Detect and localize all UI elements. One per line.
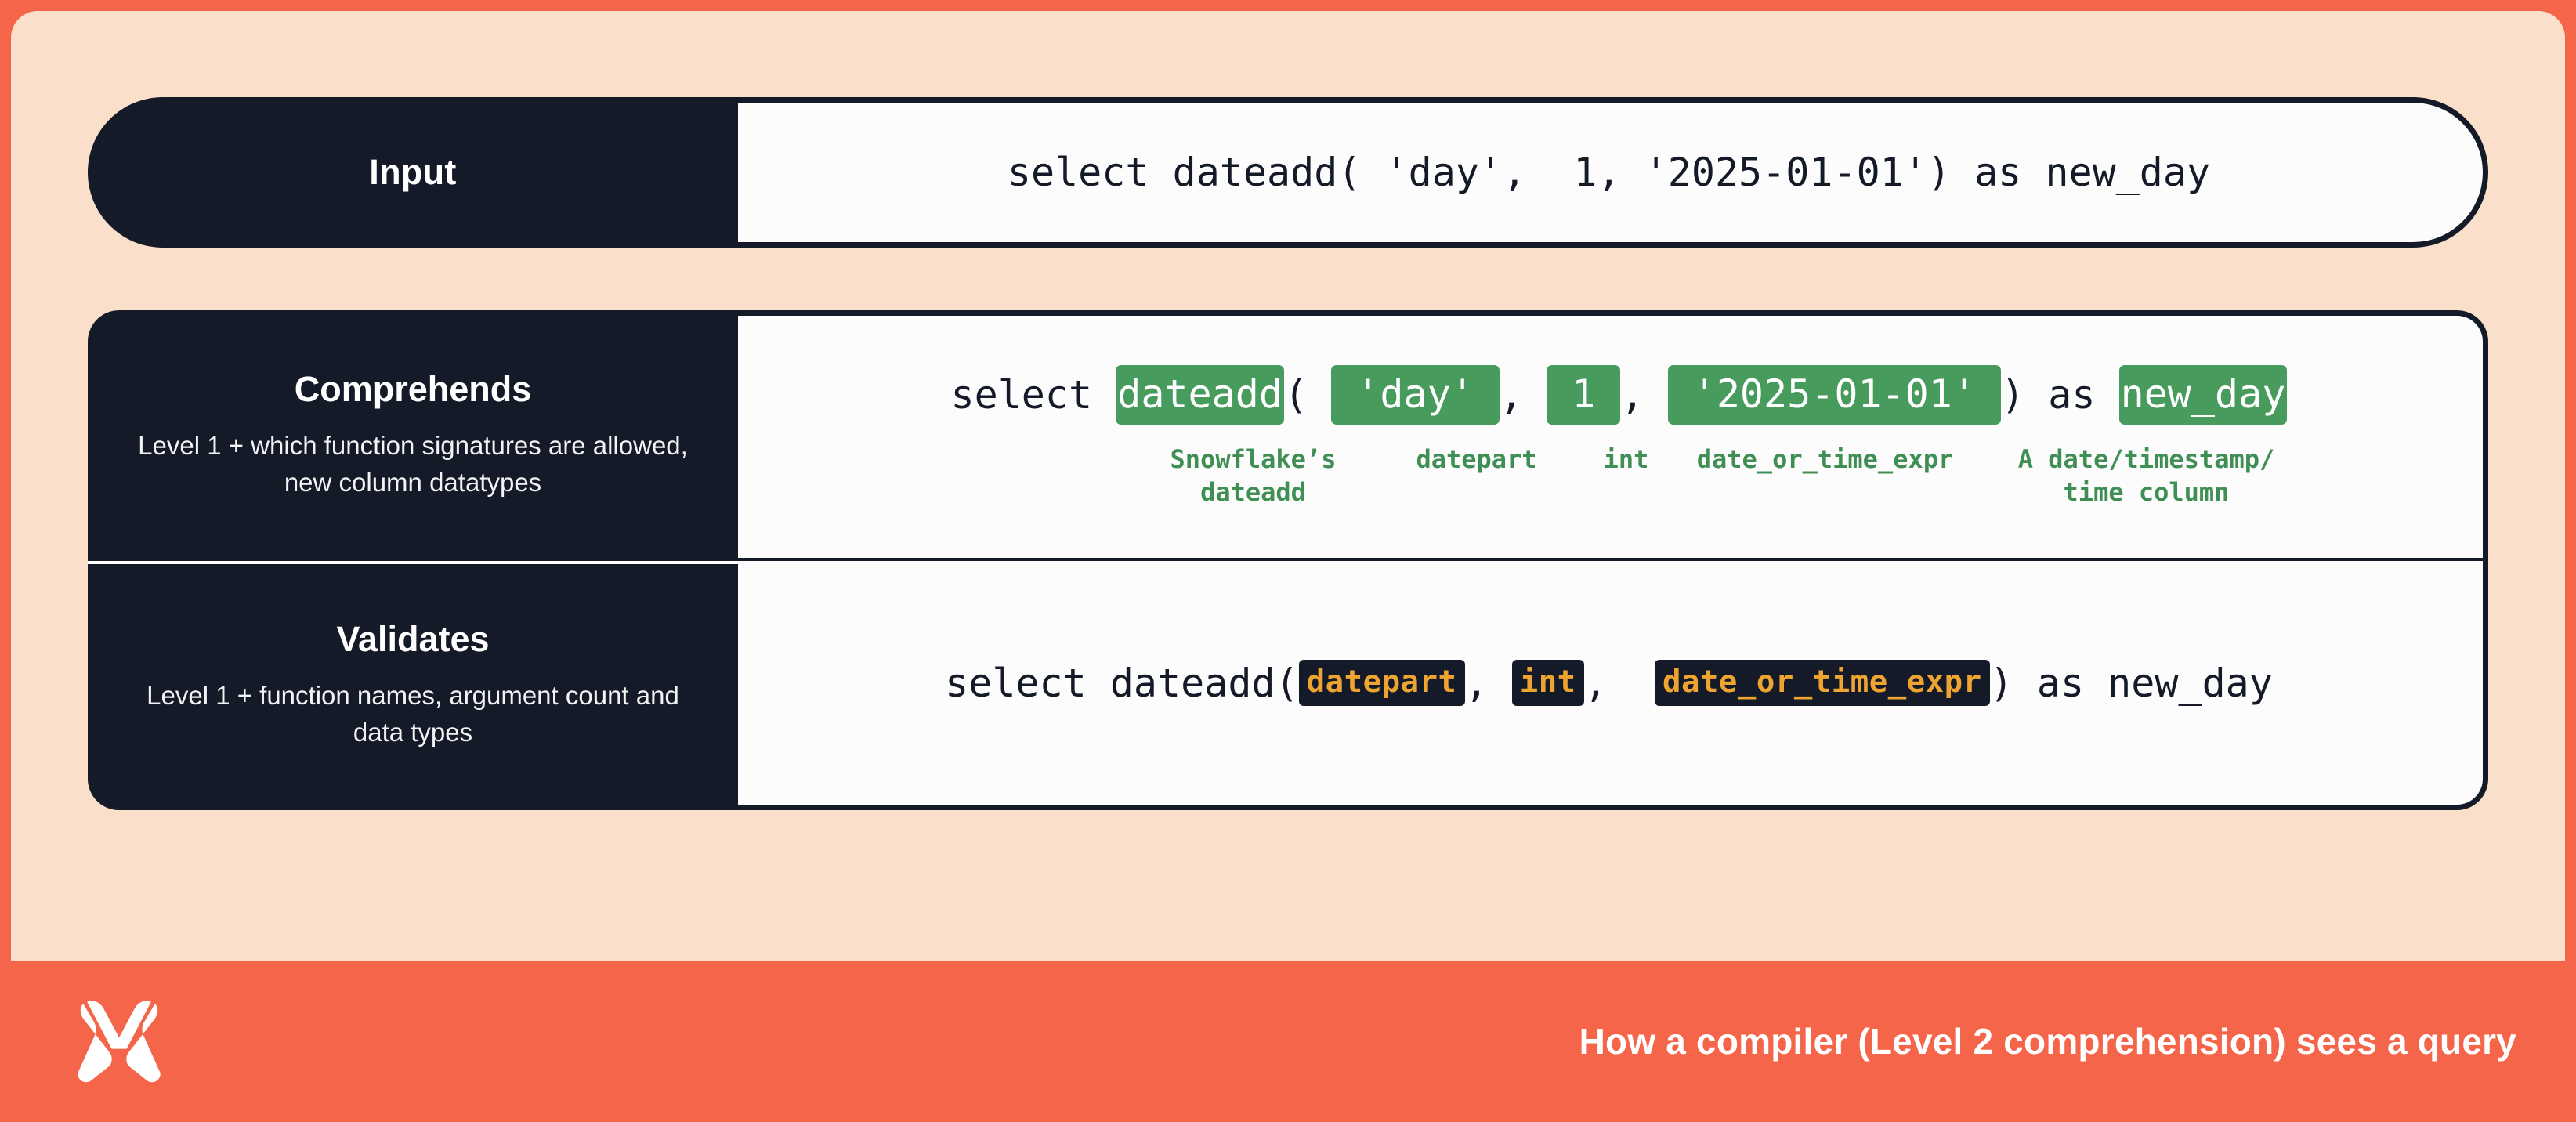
vcode-chip-date-or-time-expr: date_or_time_expr bbox=[1655, 660, 1990, 706]
code-token-as: ) as bbox=[2001, 375, 2119, 414]
annotation-int: int bbox=[1579, 443, 1673, 476]
annotation-new-column: A date/timestamp/ time column bbox=[1982, 443, 2311, 509]
input-code-text: select dateadd( 'day', 1, '2025-01-01') … bbox=[1008, 150, 2210, 195]
code-token-comma-1: , bbox=[1500, 375, 1547, 414]
code-chip-one: 1 bbox=[1547, 365, 1620, 425]
validates-title: Validates bbox=[336, 621, 489, 657]
comprehends-label: Comprehends Level 1 + which function sig… bbox=[88, 310, 738, 561]
comprehends-row: Comprehends Level 1 + which function sig… bbox=[88, 310, 2488, 561]
code-token-select: select bbox=[951, 375, 1116, 414]
vcode-token-comma-2: , bbox=[1584, 664, 1655, 703]
footer-caption: How a compiler (Level 2 comprehension) s… bbox=[1579, 1020, 2526, 1062]
code-chip-date-literal: '2025-01-01' bbox=[1668, 365, 2001, 425]
annotation-dateadd: Snowflake’s dateadd bbox=[1136, 443, 1371, 509]
comprehends-code-panel: select dateadd( 'day' , 1 , '2025-01-01'… bbox=[735, 310, 2488, 561]
code-token-comma-2: , bbox=[1620, 375, 1667, 414]
input-row: Input select dateadd( 'day', 1, '2025-01… bbox=[88, 97, 2488, 248]
comprehension-matrix: Comprehends Level 1 + which function sig… bbox=[88, 310, 2488, 810]
poster-frame: Input select dateadd( 'day', 1, '2025-01… bbox=[0, 0, 2576, 1122]
code-token-open-paren: ( bbox=[1284, 375, 1331, 414]
annotation-date-or-time-expr: date_or_time_expr bbox=[1684, 443, 1966, 476]
comprehends-subtitle: Level 1 + which function signatures are … bbox=[125, 428, 700, 501]
comprehends-annotations: Snowflake’s dateadd datepart int date_or… bbox=[951, 443, 2311, 509]
comprehends-code-block: select dateadd( 'day' , 1 , '2025-01-01'… bbox=[907, 365, 2311, 509]
footer-bar: How a compiler (Level 2 comprehension) s… bbox=[0, 961, 2576, 1122]
comprehends-title: Comprehends bbox=[295, 371, 532, 407]
input-label-text: Input bbox=[369, 152, 456, 193]
code-chip-day: 'day' bbox=[1331, 365, 1500, 425]
vcode-token-select: select dateadd( bbox=[945, 664, 1299, 703]
vcode-token-comma-1: , bbox=[1465, 664, 1512, 703]
validates-code-line: select dateadd(datepart, int, date_or_ti… bbox=[945, 660, 2273, 706]
code-chip-dateadd: dateadd bbox=[1116, 365, 1284, 425]
vcode-token-as-new-day: ) as new_day bbox=[1990, 664, 2273, 703]
content-stage: Input select dateadd( 'day', 1, '2025-01… bbox=[11, 11, 2565, 961]
validates-label: Validates Level 1 + function names, argu… bbox=[88, 561, 738, 810]
vcode-chip-int: int bbox=[1512, 660, 1584, 706]
label-column-divider bbox=[88, 561, 738, 564]
vcode-chip-datepart: datepart bbox=[1299, 660, 1465, 706]
input-row-label: Input bbox=[88, 97, 738, 248]
annotation-datepart: datepart bbox=[1387, 443, 1567, 476]
brand-x-logo-icon bbox=[72, 994, 166, 1088]
validates-subtitle: Level 1 + function names, argument count… bbox=[125, 678, 700, 751]
code-chip-new-day: new_day bbox=[2119, 365, 2288, 425]
validates-row: Validates Level 1 + function names, argu… bbox=[88, 561, 2488, 810]
comprehends-code-line: select dateadd( 'day' , 1 , '2025-01-01'… bbox=[951, 365, 2288, 425]
validates-code-panel: select dateadd(datepart, int, date_or_ti… bbox=[735, 561, 2488, 810]
input-row-code-panel: select dateadd( 'day', 1, '2025-01-01') … bbox=[735, 97, 2488, 248]
